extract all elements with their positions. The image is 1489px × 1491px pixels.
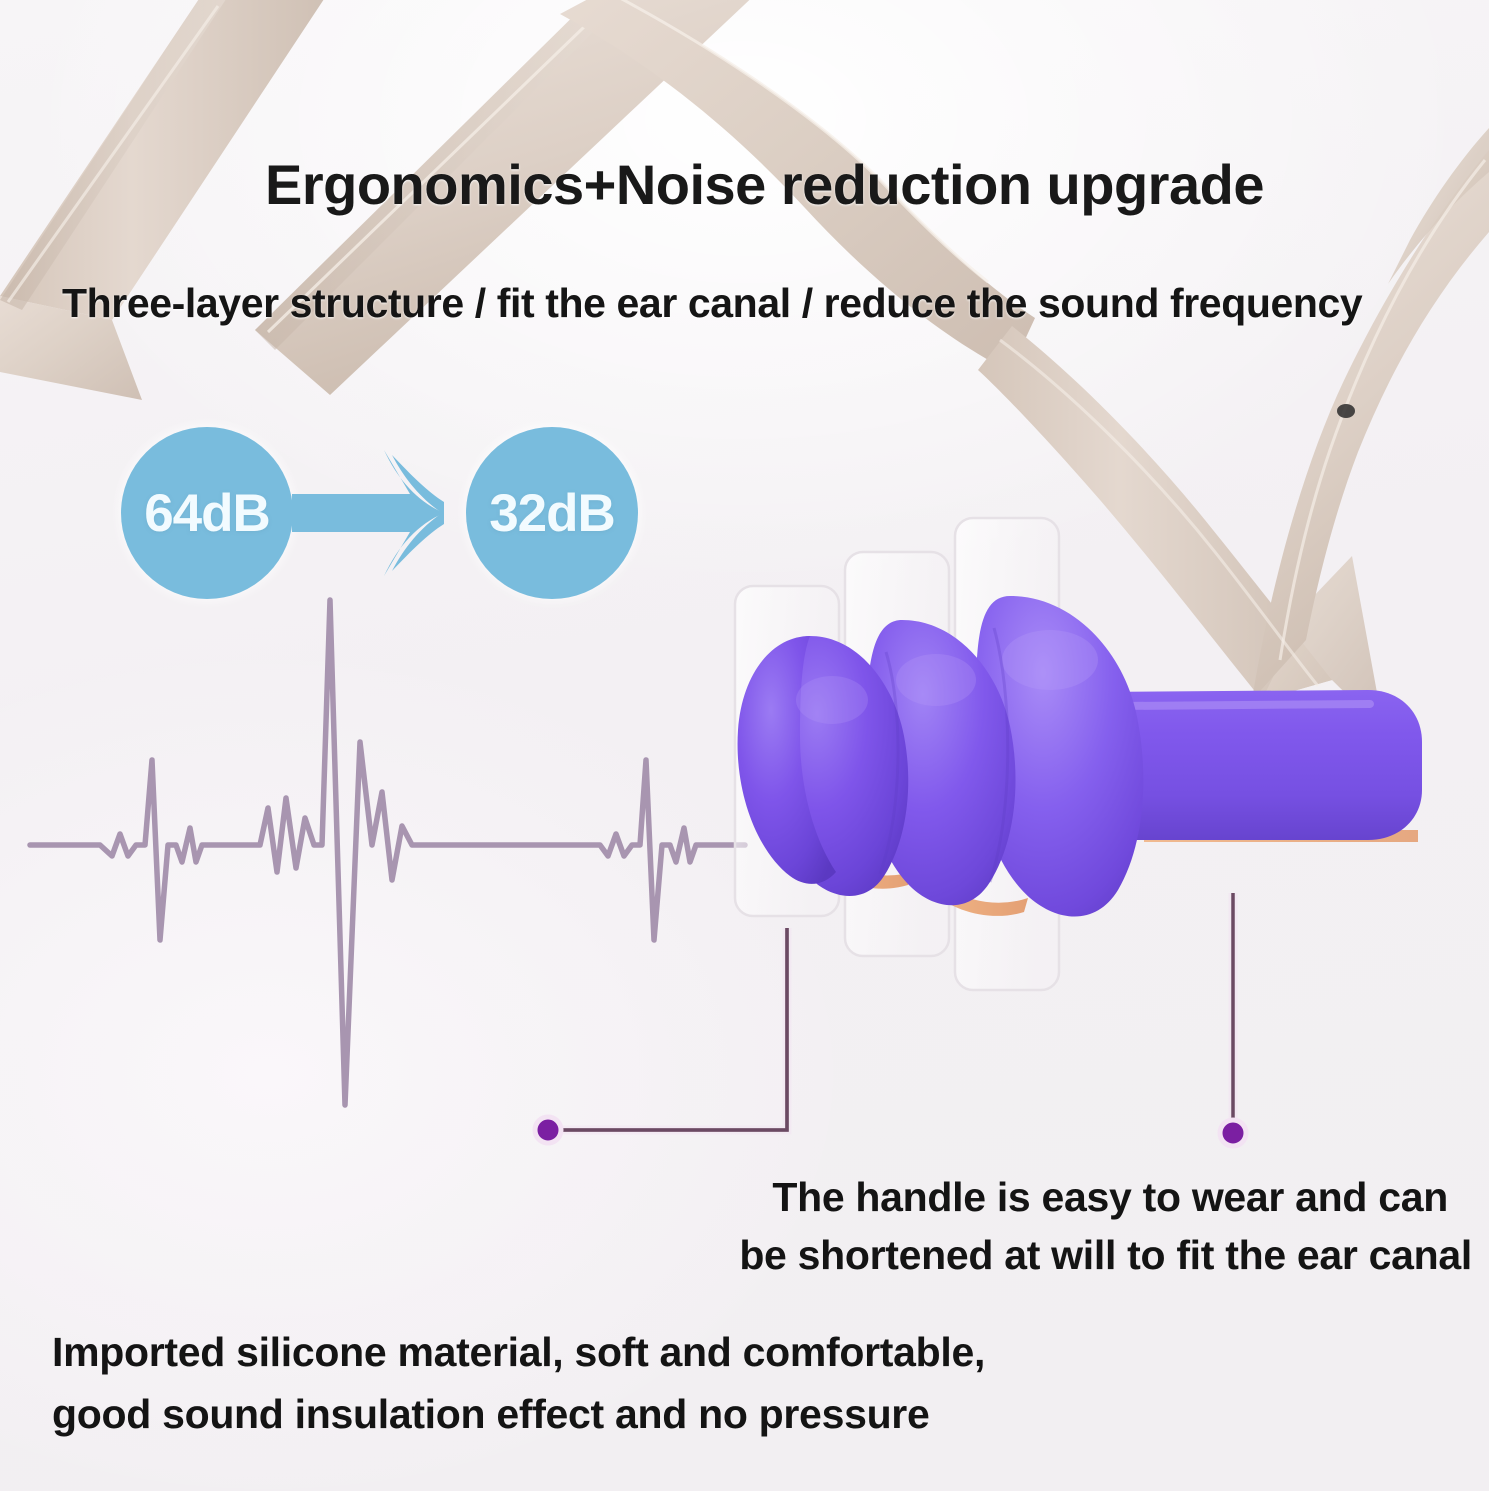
callout-dot-left (535, 1117, 561, 1143)
page-title: Ergonomics+Noise reduction upgrade (265, 152, 1305, 217)
handle-callout-line-2: be shortened at will to fit the ear cana… (672, 1226, 1472, 1284)
callout-line-right (1220, 893, 1246, 1146)
infographic-canvas: 64dB 32dB Ergonomics+Noise reduction up (0, 0, 1489, 1491)
page-subtitle: Three-layer structure / fit the ear cana… (62, 280, 1482, 327)
callout-line-left (535, 928, 787, 1143)
callout-dot-right (1220, 1120, 1246, 1146)
footer-line-2: good sound insulation effect and no pres… (52, 1384, 1152, 1446)
handle-callout-text: The handle is easy to wear and can be sh… (672, 1168, 1472, 1284)
handle-callout-line-1: The handle is easy to wear and can (672, 1168, 1472, 1226)
footer-description: Imported silicone material, soft and com… (52, 1322, 1152, 1445)
footer-line-1: Imported silicone material, soft and com… (52, 1322, 1152, 1384)
